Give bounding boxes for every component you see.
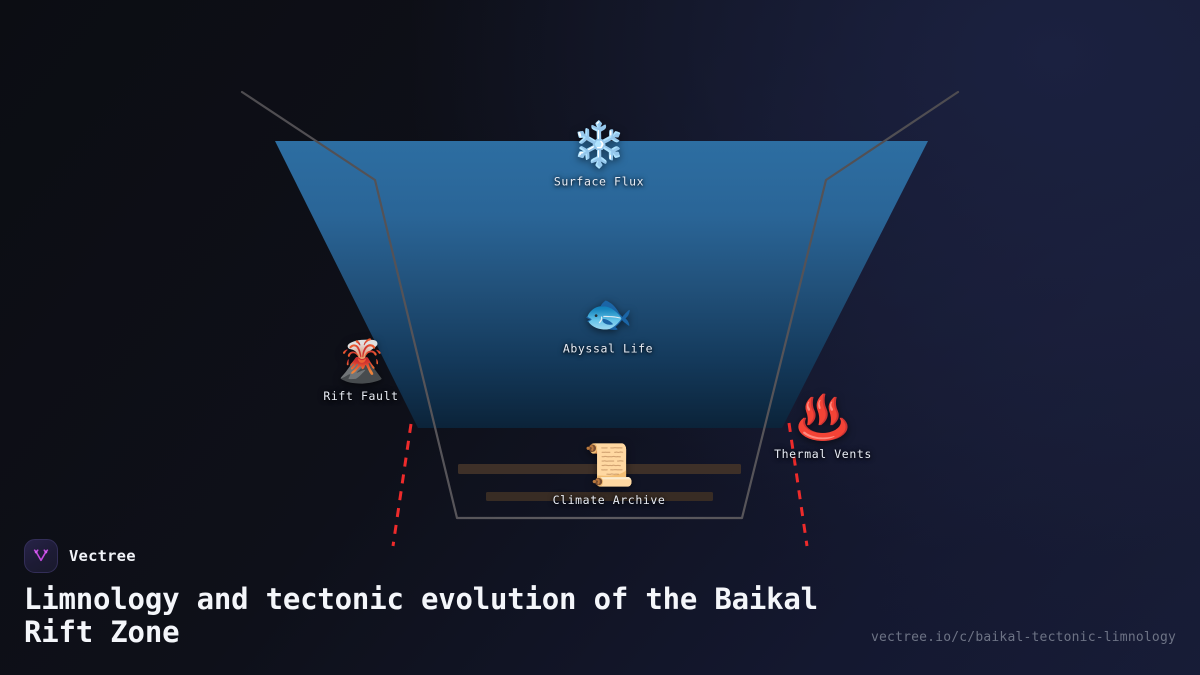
node-label-surface-flux: Surface Flux [554, 175, 644, 189]
left-fault-line [393, 424, 411, 546]
diagram-node-climate-archive[interactable]: 📜 Climate Archive [553, 445, 666, 507]
hot-springs-icon: ♨️ [796, 397, 850, 440]
brand-block[interactable]: Vectree [24, 539, 136, 573]
node-label-thermal-vents: Thermal Vents [774, 447, 872, 461]
scroll-icon: 📜 [583, 445, 634, 486]
node-label-abyssal-life: Abyssal Life [563, 342, 653, 356]
scene-canvas: ❄️ Surface Flux 🐟 Abyssal Life 🌋 Rift Fa… [0, 0, 1200, 675]
diagram-node-abyssal-life[interactable]: 🐟 Abyssal Life [563, 295, 653, 356]
snowflake-icon: ❄️ [572, 124, 627, 168]
diagram-node-rift-fault[interactable]: 🌋 Rift Fault [323, 341, 398, 403]
vectree-tree-logo-icon [24, 539, 58, 573]
footer: Vectree Limnology and tectonic evolution… [0, 535, 1200, 675]
diagram-node-thermal-vents[interactable]: ♨️ Thermal Vents [774, 397, 872, 461]
diagram-node-surface-flux[interactable]: ❄️ Surface Flux [554, 124, 644, 189]
brand-name: Vectree [69, 547, 136, 565]
node-label-rift-fault: Rift Fault [323, 389, 398, 403]
page-title: Limnology and tectonic evolution of the … [24, 583, 824, 649]
fish-icon: 🐟 [583, 295, 633, 335]
node-label-climate-archive: Climate Archive [553, 493, 666, 507]
site-url: vectree.io/c/baikal-tectonic-limnology [871, 630, 1176, 645]
volcano-icon: 🌋 [335, 341, 386, 382]
